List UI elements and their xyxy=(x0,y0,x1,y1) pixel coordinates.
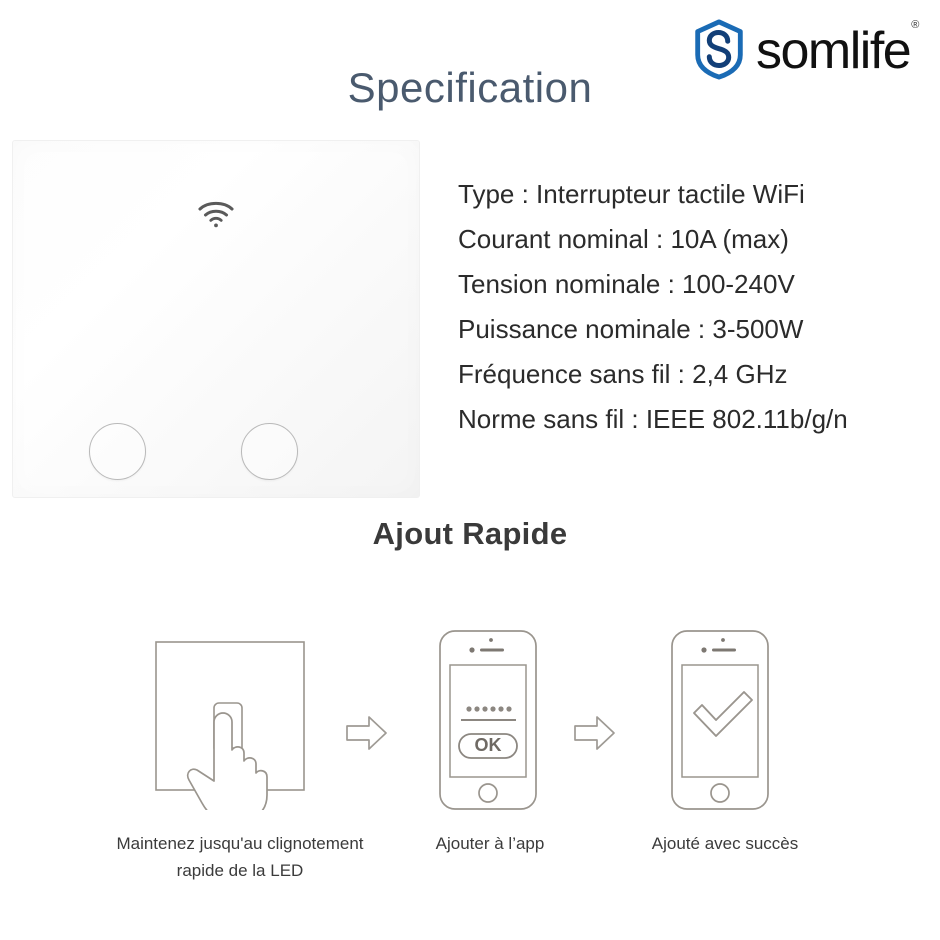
step-1-caption-line-2: rapide de la LED xyxy=(55,857,425,884)
spec-item-frequency: Fréquence sans fil : 2,4 GHz xyxy=(458,352,918,397)
arrow-right-icon xyxy=(572,713,618,753)
specification-list: Type : Interrupteur tactile WiFi Courant… xyxy=(458,172,918,442)
touch-button-right[interactable] xyxy=(241,423,298,480)
spec-item-type: Type : Interrupteur tactile WiFi xyxy=(458,172,918,217)
step-3-illustration xyxy=(620,625,820,815)
step-1-illustration xyxy=(135,625,335,815)
step-1-caption: Maintenez jusqu'au clignotement rapide d… xyxy=(55,830,425,884)
registered-mark: ® xyxy=(911,19,918,31)
touch-button-left[interactable] xyxy=(89,423,146,480)
spec-item-current: Courant nominal : 10A (max) xyxy=(458,217,918,262)
quick-add-heading: Ajout Rapide xyxy=(0,516,940,552)
wifi-signal-icon xyxy=(196,197,236,229)
step-2-illustration: OK xyxy=(388,625,588,815)
step-2-caption: Ajouter à l’app xyxy=(390,830,590,857)
arrow-right-icon xyxy=(344,713,390,753)
ok-label: OK xyxy=(475,735,502,755)
step-3-caption: Ajouté avec succès xyxy=(620,830,830,857)
spec-item-wireless-standard: Norme sans fil : IEEE 802.11b/g/n xyxy=(458,397,918,442)
product-spec-page: somlife® Specification Type : Interrupte… xyxy=(0,0,940,940)
product-image-switch-panel xyxy=(12,140,420,498)
quick-add-steps: OK xyxy=(0,625,940,825)
switch-panel-press-hand-icon xyxy=(145,630,325,810)
phone-checkmark-success-icon xyxy=(658,627,782,813)
step-1-caption-line-1: Maintenez jusqu'au clignotement xyxy=(55,830,425,857)
spec-item-power: Puissance nominale : 3-500W xyxy=(458,307,918,352)
spec-item-voltage: Tension nominale : 100-240V xyxy=(458,262,918,307)
page-title: Specification xyxy=(0,64,940,112)
phone-password-ok-icon: OK xyxy=(428,627,548,813)
